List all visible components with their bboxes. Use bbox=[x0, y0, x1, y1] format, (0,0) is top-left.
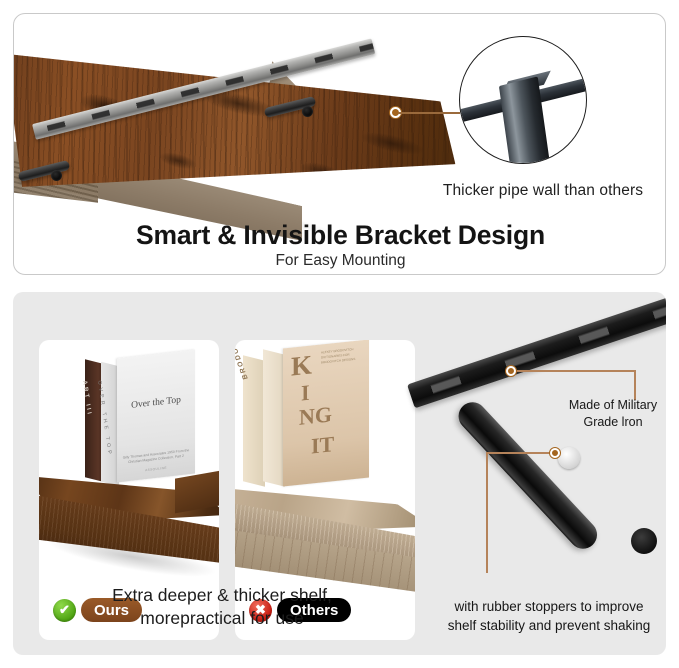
leader-line-rubber-h bbox=[486, 452, 552, 454]
leader-line-thicker-pipe bbox=[398, 112, 460, 114]
others-book-cover-microtext: ALEXEY BRODOVITCH DICTIONARIES FOR BRODO… bbox=[321, 346, 365, 365]
metal-bracket-illustration bbox=[34, 86, 394, 210]
others-book-middle bbox=[263, 349, 285, 486]
magnifier-caption: Thicker pipe wall than others bbox=[417, 182, 666, 200]
page-title: Smart & Invisible Bracket Design bbox=[14, 220, 666, 251]
comparison-caption-line1: Extra deeper & thicker shelf, bbox=[27, 584, 417, 607]
callout-military-grade-iron: Made of Military Grade lron bbox=[552, 397, 674, 432]
rubber-stopper-icon bbox=[558, 447, 580, 469]
callout-rubber-line2: shelf stability and prevent shaking bbox=[424, 617, 674, 636]
bracket-wall-plate bbox=[407, 296, 666, 408]
callout-rubber-stoppers: with rubber stoppers to improve shelf st… bbox=[424, 598, 674, 635]
leader-line-military-h bbox=[516, 370, 635, 372]
page-subtitle: For Easy Mounting bbox=[14, 252, 666, 270]
magnifier-circle-icon bbox=[459, 36, 587, 164]
ours-book-gray-cover: Over the Top Gilly Thomas and Associates… bbox=[117, 350, 195, 483]
bracket-screw-hole-left bbox=[51, 170, 62, 181]
others-book-letter-i: I bbox=[301, 380, 310, 407]
top-feature-panel: Thicker pipe wall than others Smart & In… bbox=[13, 13, 666, 275]
others-book-letter-ng: NG bbox=[299, 401, 332, 430]
comparison-caption: Extra deeper & thicker shelf, morepracti… bbox=[27, 584, 417, 630]
callout-dot-icon-military bbox=[506, 366, 516, 376]
callout-military-line2: Grade lron bbox=[552, 414, 674, 431]
ours-book-title: Over the Top bbox=[117, 394, 195, 413]
iron-bracket-illustration bbox=[417, 292, 666, 588]
leader-line-rubber-v bbox=[486, 452, 488, 573]
others-book-letter-it: IT bbox=[311, 431, 334, 459]
callout-military-line1: Made of Military bbox=[552, 397, 674, 414]
callout-rubber-line1: with rubber stoppers to improve bbox=[424, 598, 674, 617]
leader-line-military-v bbox=[634, 370, 636, 400]
comparison-caption-line2: morepractical for use bbox=[27, 607, 417, 630]
others-book-letter-k: K bbox=[291, 349, 312, 382]
others-book-cover: ALEXEY BRODOVITCH DICTIONARIES FOR BRODO… bbox=[283, 340, 369, 487]
bracket-screw-hole-right bbox=[302, 106, 313, 117]
callout-dot-icon-rubber bbox=[550, 448, 560, 458]
product-feature-image: Thicker pipe wall than others Smart & In… bbox=[0, 0, 679, 668]
bracket-pipe-end-cap bbox=[631, 528, 657, 554]
